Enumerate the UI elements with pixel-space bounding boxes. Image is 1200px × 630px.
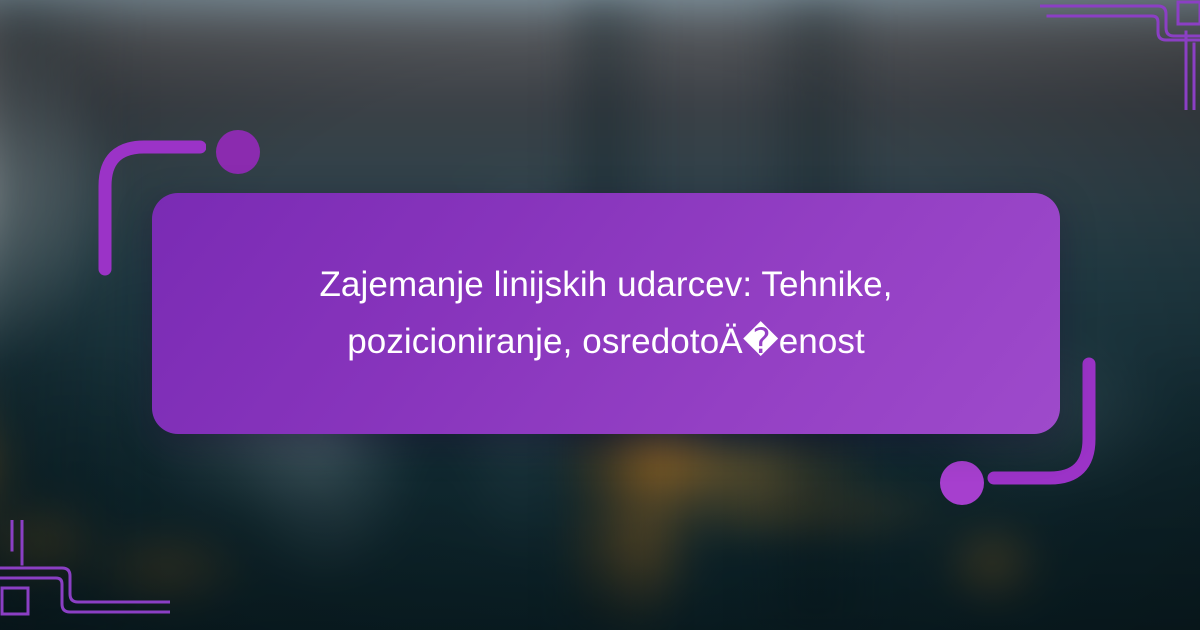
page-title: Zajemanje linijskih udarcev: Tehnike, po… — [286, 257, 926, 370]
title-card: Zajemanje linijskih udarcev: Tehnike, po… — [152, 193, 1060, 434]
share-card-canvas: Zajemanje linijskih udarcev: Tehnike, po… — [0, 0, 1200, 630]
